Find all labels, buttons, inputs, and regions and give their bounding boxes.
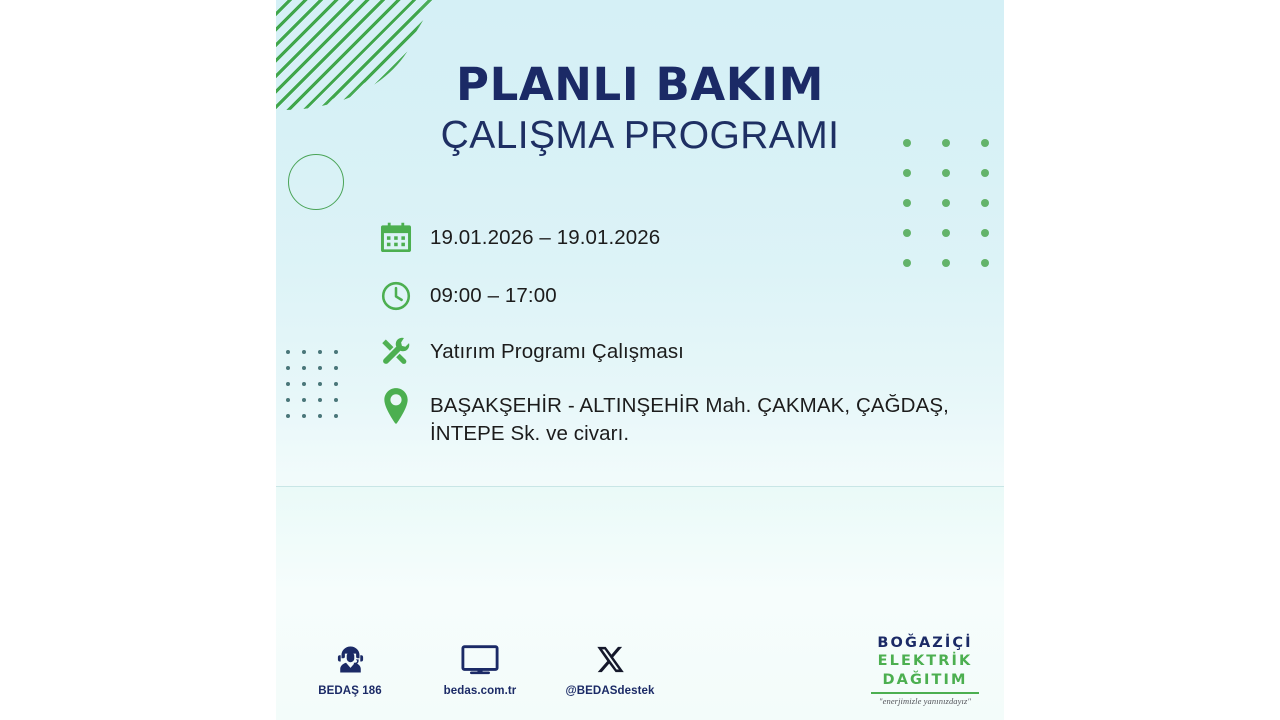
tools-icon [376,332,416,372]
contact-social-label: @BEDASdestek [565,685,654,697]
contact-social[interactable]: @BEDASdestek [564,640,656,697]
dot-grid-left-decoration [286,350,350,430]
contact-phone-label: BEDAŞ 186 [318,685,382,697]
brand-underline [871,692,979,694]
brand-line-bogazici: BOĞAZİÇİ [858,634,992,652]
clock-icon [376,276,416,316]
monitor-icon [461,640,499,678]
page-subtitle: ÇALIŞMA PROGRAMI [276,116,1004,155]
detail-row-location: BAŞAKŞEHİR - ALTINŞEHİR Mah. ÇAKMAK, ÇAĞ… [376,386,976,447]
footer-contact-bar: BEDAŞ 186 bedas.com.tr [304,640,656,697]
brand-line-dagitim: DAĞITIM [858,671,992,689]
contact-phone[interactable]: BEDAŞ 186 [304,640,396,697]
poster-title-block: PLANLI BAKIM ÇALIŞMA PROGRAMI [276,62,1004,155]
x-twitter-icon [596,640,625,678]
calendar-icon [376,218,416,258]
detail-row-work-type: Yatırım Programı Çalışması [376,332,976,372]
detail-row-date: 19.01.2026 – 19.01.2026 [376,218,976,258]
detail-time-text: 09:00 – 17:00 [430,276,557,310]
detail-location-text: BAŞAKŞEHİR - ALTINŞEHİR Mah. ÇAKMAK, ÇAĞ… [430,386,976,447]
bedas-brand-logo: BOĞAZİÇİ ELEKTRİK DAĞITIM "enerjimizle y… [858,634,992,706]
page-title: PLANLI BAKIM [276,62,1004,107]
detail-row-time: 09:00 – 17:00 [376,276,976,316]
maintenance-details-list: 19.01.2026 – 19.01.2026 09:00 – 17:00 [376,218,976,461]
contact-website[interactable]: bedas.com.tr [434,640,526,697]
brand-line-elektrik: ELEKTRİK [858,652,992,670]
location-pin-icon [376,386,416,426]
headset-support-icon [335,640,366,678]
maintenance-notice-poster: PLANLI BAKIM ÇALIŞMA PROGRAMI [276,0,1004,720]
circle-outline-decoration [288,154,344,210]
detail-date-text: 19.01.2026 – 19.01.2026 [430,218,660,252]
brand-tagline: "enerjimizle yanınızdayız" [858,696,992,706]
screenshot-root: PLANLI BAKIM ÇALIŞMA PROGRAMI [0,0,1280,720]
detail-work-type-text: Yatırım Programı Çalışması [430,332,684,366]
contact-website-label: bedas.com.tr [444,685,517,697]
